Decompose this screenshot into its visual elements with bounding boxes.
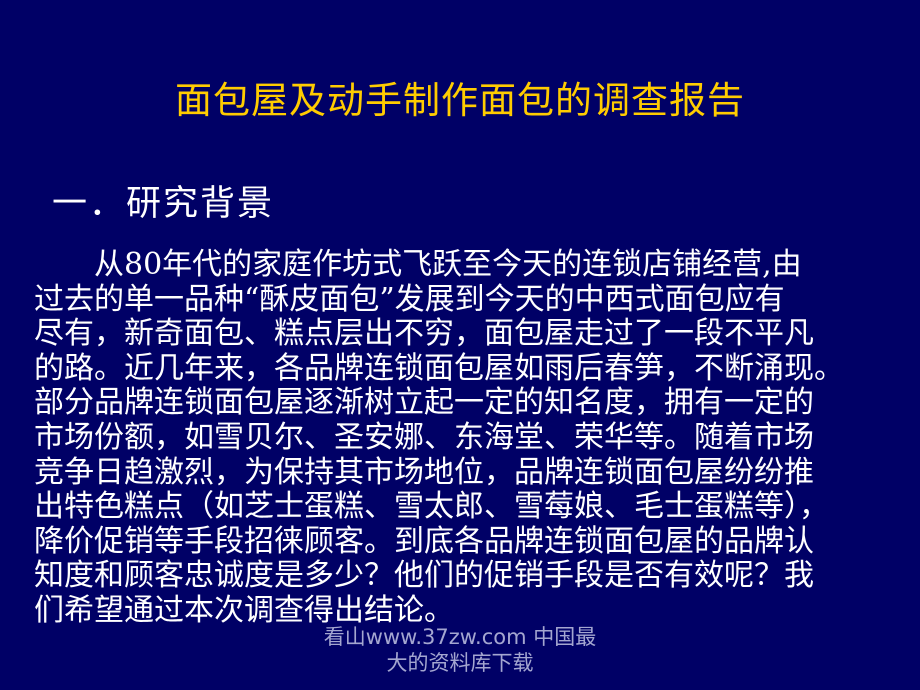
presentation-slide: 面包屋及动手制作面包的调查报告 一．研究背景 从80年代的家庭作坊式飞跃至今天的… bbox=[0, 0, 920, 690]
page-title: 面包屋及动手制作面包的调查报告 bbox=[0, 78, 920, 124]
body-line: 市场份额，如雪贝尔、圣安娜、东海堂、荣华等。随着市场 bbox=[34, 421, 910, 456]
section-heading: 一．研究背景 bbox=[52, 182, 274, 226]
body-line: 知度和顾客忠诚度是多少？他们的促销手段是否有效呢？我 bbox=[34, 559, 910, 594]
body-line: 尽有，新奇面包、糕点层出不穷，面包屋走过了一段不平凡 bbox=[34, 317, 910, 352]
body-line: 们希望通过本次调查得出结论。 bbox=[34, 594, 910, 629]
body-line: 过去的单一品种“酥皮面包”发展到今天的中西式面包应有 bbox=[34, 283, 910, 318]
body-line: 降价促销等手段招徕顾客。到底各品牌连锁面包屋的品牌认 bbox=[34, 525, 910, 560]
body-line: 从80年代的家庭作坊式飞跃至今天的连锁店铺经营,由 bbox=[34, 248, 910, 283]
body-line: 竞争日趋激烈，为保持其市场地位，品牌连锁面包屋纷纷推 bbox=[34, 456, 910, 491]
body-text-block: 从80年代的家庭作坊式飞跃至今天的连锁店铺经营,由 过去的单一品种“酥皮面包”发… bbox=[34, 248, 910, 629]
body-line: 的路。近几年来，各品牌连锁面包屋如雨后春笋，不断涌现。 bbox=[34, 352, 910, 387]
watermark-line: 大的资料库下载 bbox=[0, 650, 920, 676]
body-line: 出特色糕点（如芝士蛋糕、雪太郎、雪莓娘、毛士蛋糕等）， bbox=[34, 490, 910, 525]
watermark: 看山www.37zw.com 中国最 大的资料库下载 bbox=[0, 624, 920, 676]
body-line: 部分品牌连锁面包屋逐渐树立起一定的知名度，拥有一定的 bbox=[34, 386, 910, 421]
